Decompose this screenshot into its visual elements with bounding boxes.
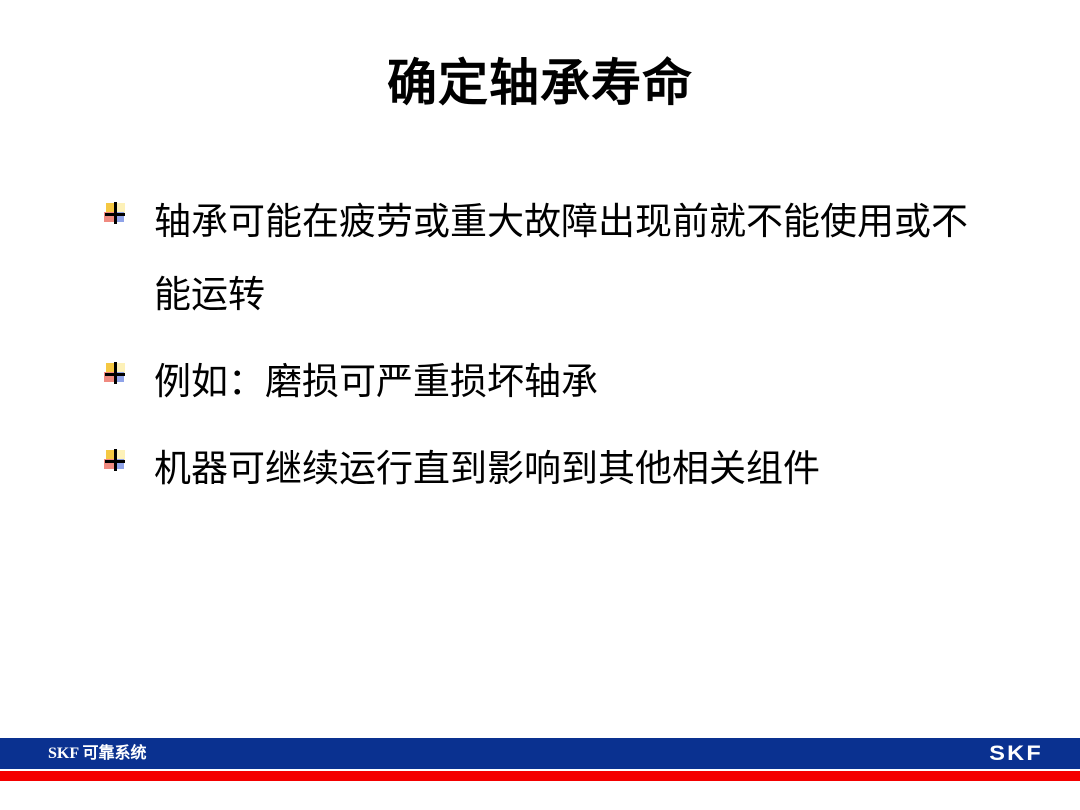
- list-item: 机器可继续运行直到影响到其他相关组件: [104, 433, 1004, 506]
- bullet-cross-icon: [104, 362, 126, 384]
- bullet-cross-icon: [104, 449, 126, 471]
- footer-bar: SKF 可靠系统 SKF: [0, 738, 1080, 769]
- bullet-text-2: 例如：磨损可严重损坏轴承: [154, 346, 1004, 419]
- skf-logo: SKF: [989, 742, 1043, 765]
- bullet-cross-icon: [104, 202, 126, 224]
- list-item: 例如：磨损可严重损坏轴承: [104, 346, 1004, 419]
- bullet-text-3: 机器可继续运行直到影响到其他相关组件: [154, 433, 1004, 506]
- bullet-cross-horizontal: [105, 460, 125, 463]
- footer-red-rule: [0, 771, 1080, 781]
- bullet-list: 轴承可能在疲劳或重大故障出现前就不能使用或不能运转 例如：磨损可严重损坏轴承: [104, 186, 1004, 520]
- list-item: 轴承可能在疲劳或重大故障出现前就不能使用或不能运转: [104, 186, 1004, 332]
- bullet-cross-horizontal: [105, 213, 125, 216]
- page-title: 确定轴承寿命: [0, 52, 1080, 114]
- bullet-text-1: 轴承可能在疲劳或重大故障出现前就不能使用或不能运转: [154, 186, 1004, 332]
- slide-canvas: 确定轴承寿命 轴承可能在疲劳或重大故障出现前就不能使用或不能运转: [0, 0, 1080, 810]
- bullet-cross-horizontal: [105, 373, 125, 376]
- footer-label: SKF 可靠系统: [48, 738, 147, 769]
